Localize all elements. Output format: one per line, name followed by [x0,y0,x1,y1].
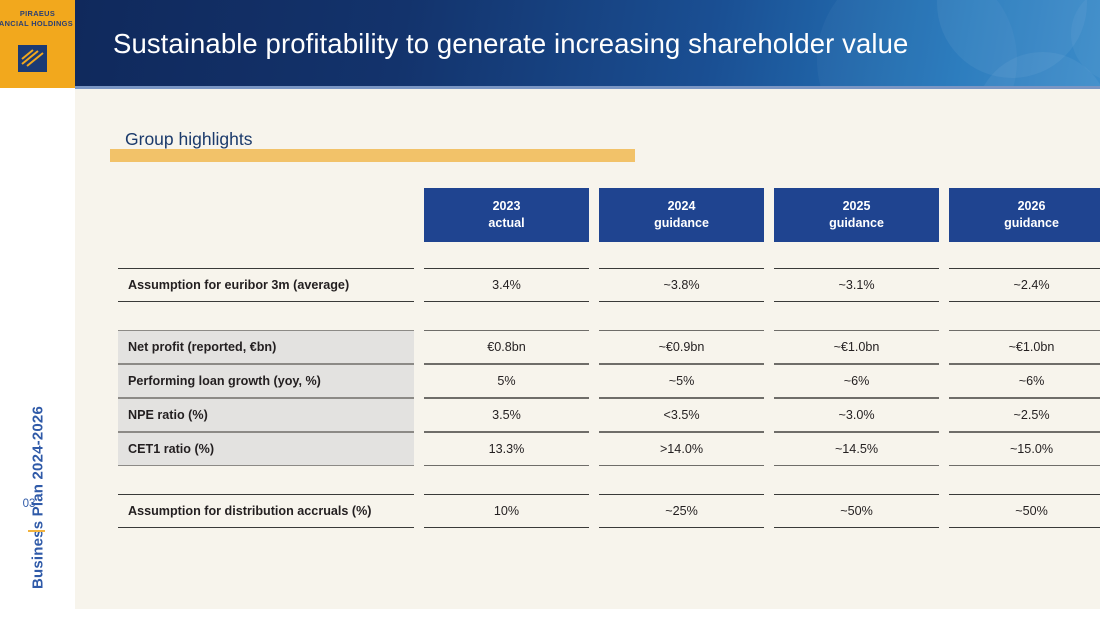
section-heading: Group highlights [110,129,650,162]
table-spacer-cell [118,466,1100,494]
table-cell-gap [414,494,424,528]
table-column-header: 2024guidance [599,188,764,242]
group-highlights-table: 2023actual2024guidance2025guidance2026gu… [118,188,1100,528]
table-row: NPE ratio (%)3.5%<3.5%~3.0%~2.5% [118,398,1100,432]
table-cell-value: ~5% [599,364,764,398]
table-cell-gap [414,364,424,398]
table-cell-gap [764,398,774,432]
slide-canvas: Sustainable profitability to generate in… [0,0,1100,618]
page-title: Sustainable profitability to generate in… [113,0,908,88]
table-header-corner [118,188,414,242]
table-header-gap [589,188,599,242]
table-row-label: NPE ratio (%) [118,398,414,432]
column-header-kind: guidance [774,215,939,232]
table-column-header: 2023actual [424,188,589,242]
page-number: 03 [0,498,58,510]
table-row-label: Assumption for euribor 3m (average) [118,268,414,302]
table-cell-gap [414,398,424,432]
table-cell-value: ~3.8% [599,268,764,302]
table-cell-gap [939,432,949,466]
table-cell-value: 5% [424,364,589,398]
table-spacer-row [118,466,1100,494]
column-header-year: 2025 [774,198,939,215]
table-header-row: 2023actual2024guidance2025guidance2026gu… [118,188,1100,242]
table-body: Assumption for euribor 3m (average)3.4%~… [118,242,1100,528]
table-cell-value: 13.3% [424,432,589,466]
table-cell-gap [764,268,774,302]
table-cell-value: <3.5% [599,398,764,432]
table-row: Performing loan growth (yoy, %)5%~5%~6%~… [118,364,1100,398]
brand-name-line2: FINANCIAL HOLDINGS [0,19,75,29]
table-column-header: 2026guidance [949,188,1100,242]
table-cell-gap [414,330,424,364]
table-cell-gap [764,494,774,528]
table-spacer-row [118,302,1100,330]
table-cell-value: ~€0.9bn [599,330,764,364]
slide-header: Sustainable profitability to generate in… [75,0,1100,88]
table-spacer-cell [118,302,1100,330]
table-spacer-row [118,242,1100,268]
column-header-kind: actual [424,215,589,232]
column-header-kind: guidance [599,215,764,232]
table-cell-gap [764,330,774,364]
table-cell-gap [414,268,424,302]
table-row: Net profit (reported, €bn)€0.8bn~€0.9bn~… [118,330,1100,364]
column-header-year: 2026 [949,198,1100,215]
table-cell-gap [939,364,949,398]
table-cell-gap [589,330,599,364]
table-cell-value: ~3.0% [774,398,939,432]
brand-name-line1: PIRAEUS [20,9,55,18]
table-header-gap [939,188,949,242]
table-cell-value: ~6% [774,364,939,398]
table-cell-gap [589,398,599,432]
section-heading-highlight-bar [110,149,635,162]
table-header-gap [764,188,774,242]
table-cell-gap [764,364,774,398]
table-cell-value: 3.5% [424,398,589,432]
table-cell-gap [589,432,599,466]
table-column-header: 2025guidance [774,188,939,242]
table-cell-value: 3.4% [424,268,589,302]
table-row: Assumption for distribution accruals (%)… [118,494,1100,528]
table-cell-gap [939,330,949,364]
piraeus-logo-mark-icon [18,45,47,72]
table-spacer-cell [118,242,1100,268]
table-cell-gap [589,364,599,398]
table-cell-value: ~6% [949,364,1100,398]
table-cell-gap [589,268,599,302]
table-header: 2023actual2024guidance2025guidance2026gu… [118,188,1100,242]
column-header-year: 2023 [424,198,589,215]
table-cell-gap [764,432,774,466]
left-rail: Business Plan 2024-2026 03 [0,88,75,618]
table-cell-value: ~14.5% [774,432,939,466]
table-cell-value: ~50% [949,494,1100,528]
brand-name: PIRAEUS FINANCIAL HOLDINGS [0,9,75,28]
table-header-gap [414,188,424,242]
section-heading-label: Group highlights [125,129,252,150]
table-cell-gap [939,268,949,302]
table-row-label: Assumption for distribution accruals (%) [118,494,414,528]
table-cell-value: ~15.0% [949,432,1100,466]
table-cell-value: €0.8bn [424,330,589,364]
table-cell-gap [939,398,949,432]
table-cell-value: ~€1.0bn [949,330,1100,364]
table-cell-value: ~50% [774,494,939,528]
table-cell-gap [939,494,949,528]
column-header-kind: guidance [949,215,1100,232]
table-cell-value: ~25% [599,494,764,528]
table-row: Assumption for euribor 3m (average)3.4%~… [118,268,1100,302]
table-cell-value: ~3.1% [774,268,939,302]
table-cell-gap [414,432,424,466]
table-cell-value: >14.0% [599,432,764,466]
table-cell-value: ~€1.0bn [774,330,939,364]
table-cell-value: ~2.5% [949,398,1100,432]
brand-logo-panel: PIRAEUS FINANCIAL HOLDINGS [0,0,75,88]
table-row: CET1 ratio (%)13.3%>14.0%~14.5%~15.0% [118,432,1100,466]
table-cell-value: 10% [424,494,589,528]
table-cell-gap [589,494,599,528]
table-row-label: Performing loan growth (yoy, %) [118,364,414,398]
rail-divider [28,530,45,533]
column-header-year: 2024 [599,198,764,215]
table-row-label: CET1 ratio (%) [118,432,414,466]
table-cell-value: ~2.4% [949,268,1100,302]
highlights-table-wrapper: 2023actual2024guidance2025guidance2026gu… [118,188,1075,588]
table-row-label: Net profit (reported, €bn) [118,330,414,364]
